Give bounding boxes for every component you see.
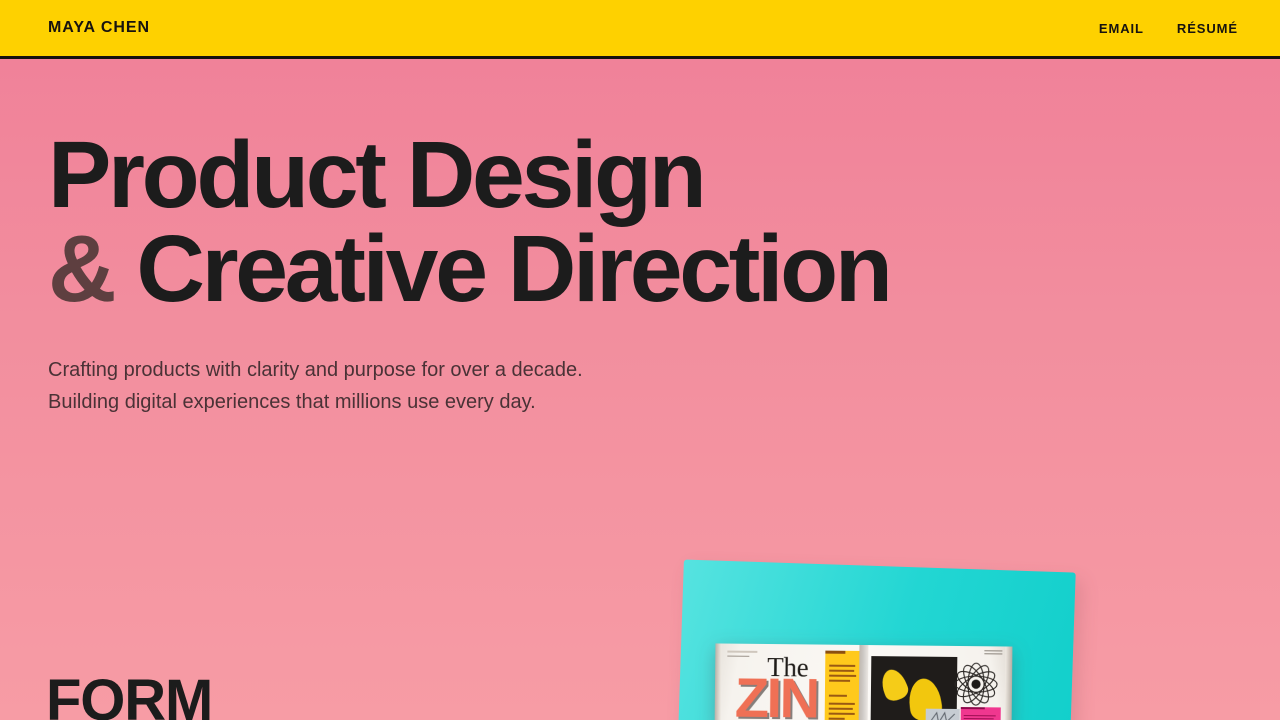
- section-heading-form: FORM: [46, 672, 212, 720]
- left-page-rule: [727, 651, 757, 653]
- pink-note-line: [964, 715, 996, 716]
- nav-link-resume[interactable]: RÉSUMÉ: [1177, 21, 1238, 36]
- scribble-mark-icon: [928, 710, 958, 720]
- hero-headline: Product Design & Creative Direction: [48, 128, 890, 316]
- headline-line-2-text: Creative Direction: [136, 216, 889, 322]
- magazine-right-edge: [1005, 646, 1013, 720]
- yellow-panel-line: [829, 708, 853, 710]
- headline-line-2: & Creative Direction: [48, 222, 890, 316]
- atom-diagram-icon: [952, 660, 1001, 709]
- brand-logo[interactable]: MAYA CHEN: [48, 19, 150, 37]
- open-magazine: The ZIN: [715, 643, 1013, 720]
- magazine-right-page: [863, 645, 1013, 720]
- headline-line-1: Product Design: [48, 128, 890, 222]
- hero-subtitle: Crafting products with clarity and purpo…: [48, 354, 890, 418]
- nav-link-email[interactable]: EMAIL: [1099, 21, 1144, 36]
- yellow-panel-line: [829, 713, 855, 715]
- pink-note-line: [964, 718, 994, 719]
- pear-shape-small: [877, 666, 911, 704]
- yellow-panel-heading: [825, 651, 845, 654]
- right-page-pink-note: [961, 707, 1001, 720]
- subtitle-line-1: Crafting products with clarity and purpo…: [48, 359, 583, 381]
- yellow-panel-line: [829, 675, 856, 677]
- hero-section: Product Design & Creative Direction Craf…: [48, 128, 890, 418]
- magazine-photo: The ZIN: [665, 552, 1095, 720]
- ampersand-glyph: &: [48, 216, 113, 322]
- yellow-panel-line: [829, 670, 854, 672]
- magazine-spine: [859, 645, 869, 720]
- magazine-left-page: The ZIN: [715, 643, 864, 720]
- yellow-panel-line: [829, 718, 845, 720]
- left-page-micro-text: [727, 656, 749, 659]
- subtitle-line-2: Building digital experiences that millio…: [48, 391, 536, 413]
- yellow-panel-line: [829, 665, 855, 667]
- yellow-panel-line: [829, 695, 847, 697]
- magazine-left-edge: [715, 643, 722, 720]
- site-header: MAYA CHEN EMAIL RÉSUMÉ: [0, 0, 1280, 59]
- pink-note-heading: [961, 707, 985, 709]
- landing-page: MAYA CHEN EMAIL RÉSUMÉ Product Design & …: [0, 0, 1280, 720]
- primary-nav: EMAIL RÉSUMÉ: [1099, 21, 1240, 36]
- zine-title: ZIN: [735, 674, 818, 720]
- yellow-panel-line: [829, 680, 850, 682]
- left-page-yellow-panel: [825, 651, 860, 720]
- right-page-folio: [984, 650, 1002, 656]
- yellow-panel-line: [829, 703, 855, 705]
